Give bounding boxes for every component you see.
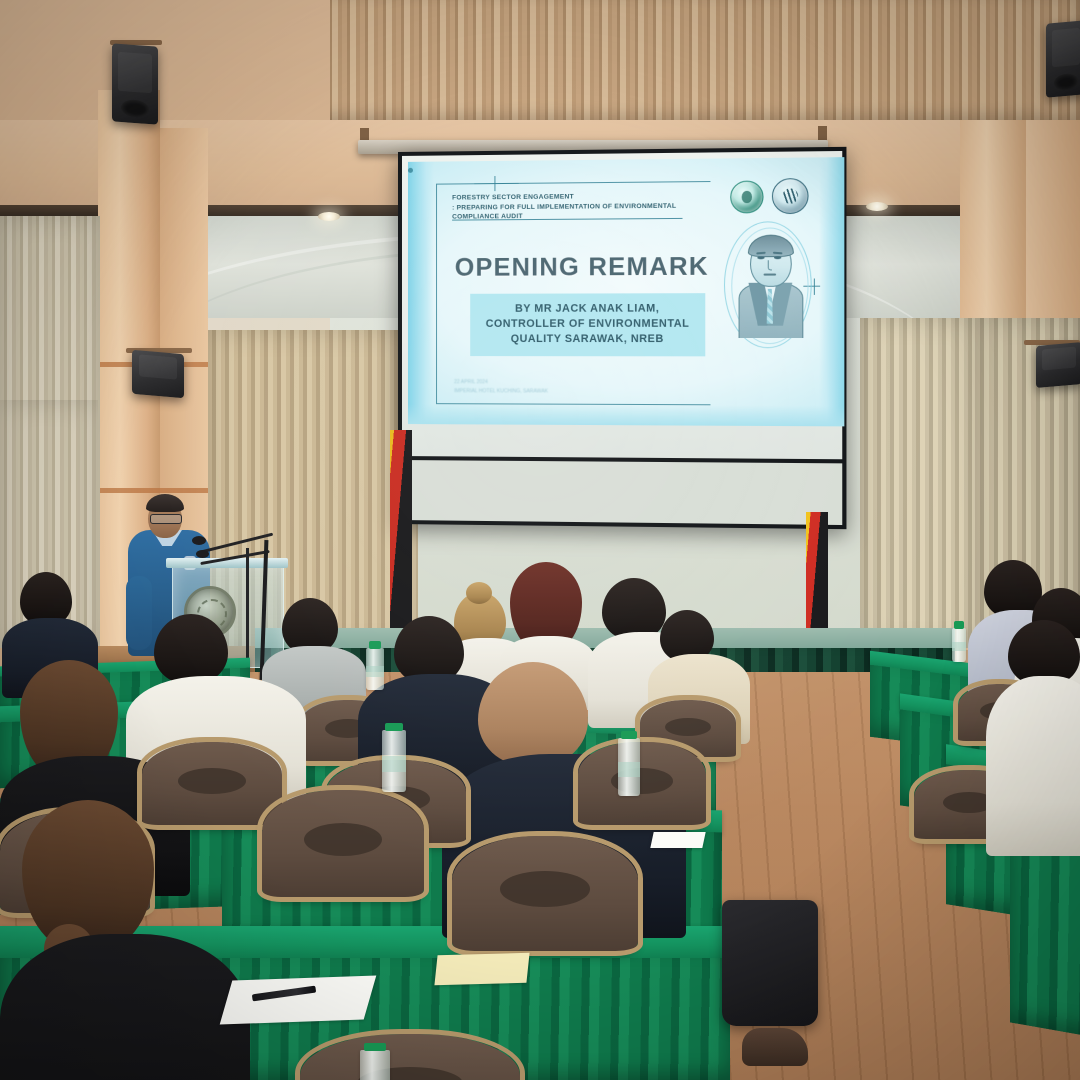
portrait-hair xyxy=(748,235,794,258)
portrait-eye-right xyxy=(774,256,781,259)
speaker-woofer xyxy=(121,99,149,118)
projection-screen: FORESTRY SECTOR ENGAGEMENT : PREPARING F… xyxy=(398,147,846,529)
presentation-slide: FORESTRY SECTOR ENGAGEMENT : PREPARING F… xyxy=(408,157,844,426)
bottle-label xyxy=(952,642,966,651)
sarawak-flag-right xyxy=(806,512,828,640)
speaker-woofer xyxy=(1054,73,1078,91)
chair-notch xyxy=(178,768,245,794)
portrait-figure xyxy=(734,231,803,338)
backpack xyxy=(722,900,818,1026)
mineral-water-bottle xyxy=(360,1050,390,1080)
bottle-cap xyxy=(621,731,637,739)
presenter-arm xyxy=(126,576,152,650)
attendee-head xyxy=(22,800,154,950)
chair-notch xyxy=(500,871,589,906)
slide-gradient-right xyxy=(819,157,844,426)
ceiling-speaker-top-right xyxy=(1046,20,1080,97)
eyeglasses-icon xyxy=(150,514,182,524)
screen-lower-blank xyxy=(402,460,842,525)
portrait-eye-left xyxy=(757,256,764,259)
downlight-1 xyxy=(318,212,340,221)
slide-tick-top-vertical xyxy=(494,176,495,191)
screen-surface: FORESTRY SECTOR ENGAGEMENT : PREPARING F… xyxy=(402,151,842,459)
agency-seal-logo xyxy=(772,178,809,214)
bottle-cap xyxy=(385,723,402,731)
microphone-stand-pole-2 xyxy=(246,548,249,666)
mineral-water-bottle xyxy=(618,738,640,796)
chair-mid-3 xyxy=(578,742,706,828)
sarawak-flag-left xyxy=(390,430,412,638)
slide-gradient-bottom xyxy=(408,404,844,426)
mineral-water-bottle xyxy=(382,730,406,792)
bottle-label xyxy=(618,762,640,777)
note-paper xyxy=(650,832,705,848)
bottle-cap xyxy=(954,621,964,629)
wall-speaker-mid-right xyxy=(1036,342,1080,388)
slide-title: OPENING REMARK xyxy=(452,252,711,282)
speaker-grille xyxy=(1042,347,1075,371)
chair-mid-4 xyxy=(262,790,424,900)
conference-hall-photo: FORESTRY SECTOR ENGAGEMENT : PREPARING F… xyxy=(0,0,1080,1080)
ceiling-speaker-top-left xyxy=(112,43,158,124)
mineral-water-bottle xyxy=(366,648,384,690)
bottle-label xyxy=(366,666,384,677)
yellow-notepad xyxy=(434,953,529,985)
speaker-grille xyxy=(118,52,151,93)
slide-header-line1: FORESTRY SECTOR ENGAGEMENT xyxy=(452,193,574,201)
slide-footer-line2: IMPERIAL HOTEL KUCHING, SARAWAK xyxy=(454,387,637,396)
microphone-capsule-1 xyxy=(192,536,206,545)
portrait-mouth xyxy=(764,274,777,276)
chair-front-center xyxy=(452,836,638,954)
slide-footer-line1: 22 APRIL 2024 xyxy=(454,378,637,387)
attendee-torso xyxy=(986,676,1080,856)
shoe xyxy=(742,1028,808,1066)
bottle-label xyxy=(382,756,406,772)
portrait-nose xyxy=(768,260,772,270)
slide-subtitle-box: BY MR JACK ANAK LIAM, CONTROLLER OF ENVI… xyxy=(470,293,705,356)
slide-subtitle-line1: BY MR JACK ANAK LIAM, xyxy=(474,301,701,317)
slide-gradient-left xyxy=(408,162,434,425)
chair-foreground xyxy=(300,1034,520,1080)
attendee-hair-bun xyxy=(466,582,492,604)
bottle-cap xyxy=(369,641,382,649)
speaker-grille xyxy=(139,355,176,380)
slide-tick-mid-dot xyxy=(408,168,413,173)
downlight-3 xyxy=(866,202,888,211)
bottle-cap xyxy=(364,1043,386,1051)
slide-footer: 22 APRIL 2024 IMPERIAL HOTEL KUCHING, SA… xyxy=(454,378,637,396)
slide-subtitle-line3: QUALITY SARAWAK, NREB xyxy=(474,332,701,347)
note-paper xyxy=(220,975,377,1024)
slide-subtitle-line2: CONTROLLER OF ENVIRONMENTAL xyxy=(474,317,701,332)
microphone-capsule-2 xyxy=(196,550,209,558)
curtain-right xyxy=(860,318,980,648)
chair-notch xyxy=(665,718,711,736)
speaker-grille xyxy=(1052,28,1080,68)
nreb-logo xyxy=(730,181,763,214)
chair-notch xyxy=(304,823,382,856)
wall-speaker-mid-left xyxy=(132,350,184,399)
column-trim-left-2 xyxy=(98,488,208,493)
attendee-head xyxy=(154,614,228,684)
table-row-right-4-skirt xyxy=(1010,822,1080,1057)
speaker-portrait-illustration xyxy=(714,217,816,350)
attendee-head xyxy=(602,578,666,640)
mineral-water-bottle xyxy=(952,628,966,662)
attendee-torso xyxy=(0,934,250,1080)
